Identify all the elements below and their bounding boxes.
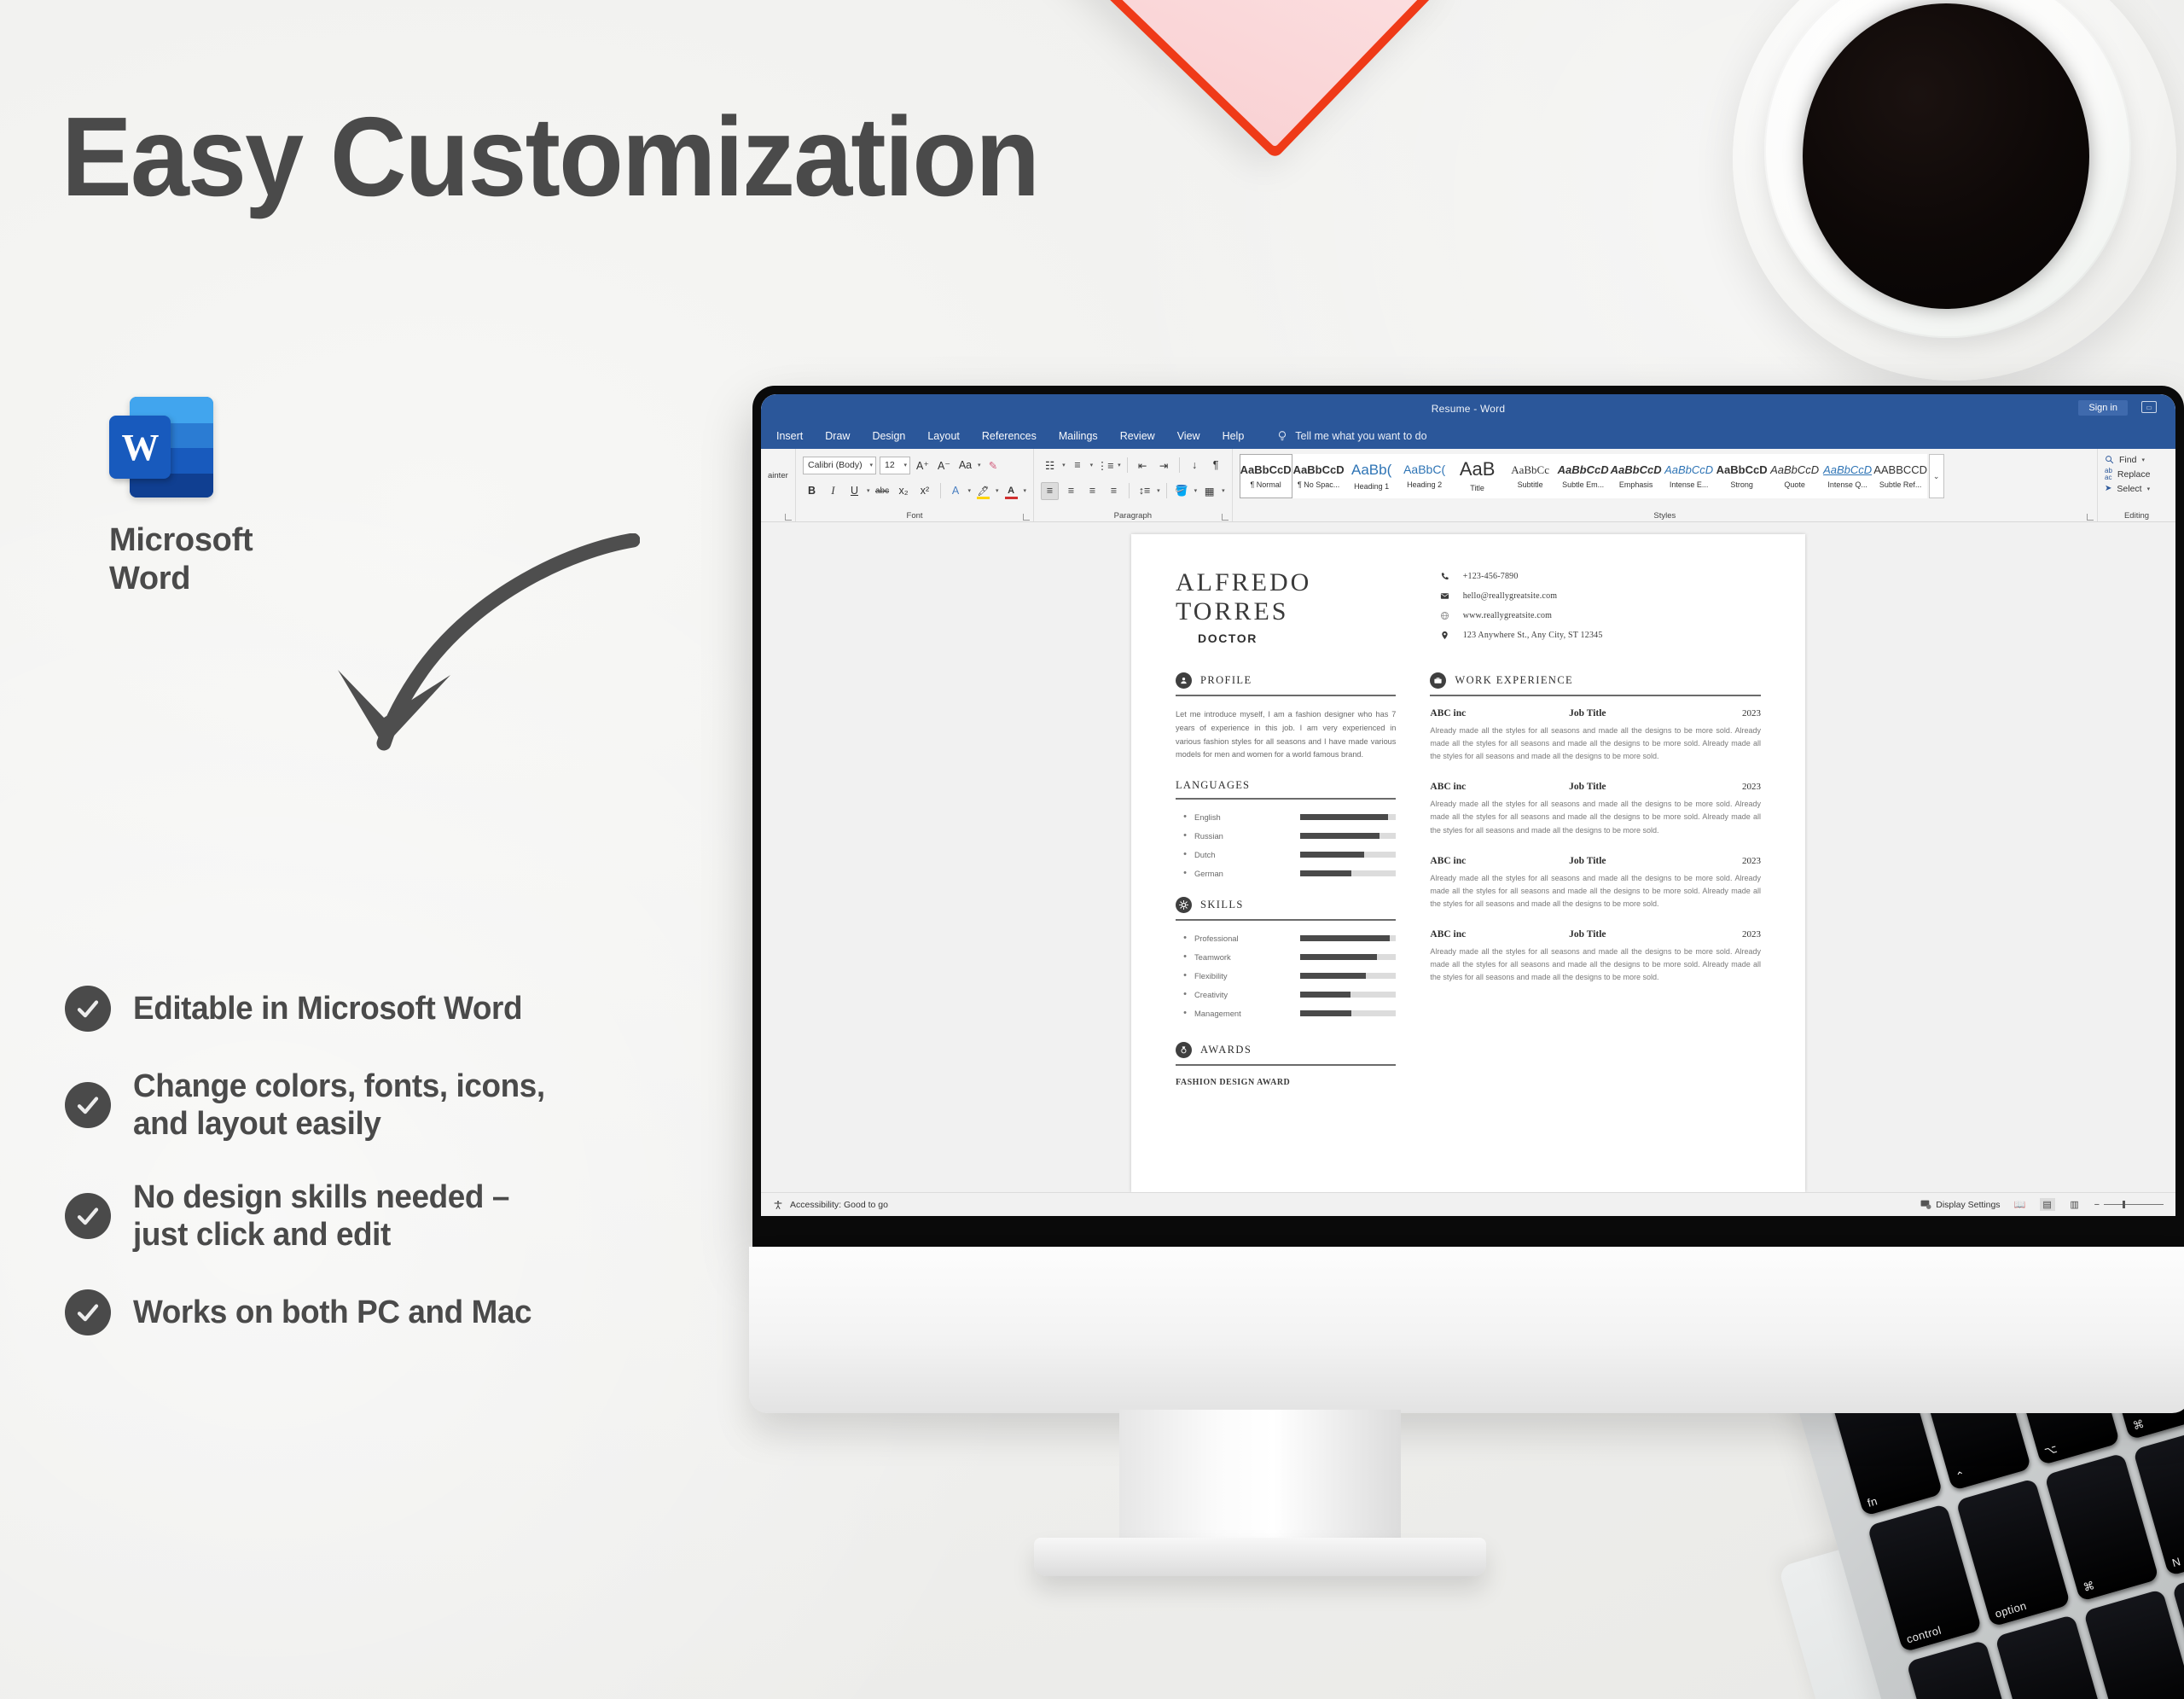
document-title: Resume - Word	[1432, 403, 1505, 415]
bullet-icon: •	[1176, 1008, 1194, 1018]
language-label: Dutch	[1194, 850, 1300, 859]
align-left-icon[interactable]: ≡	[1041, 482, 1059, 500]
select-button[interactable]: ➤ Select ▾	[2105, 481, 2169, 496]
language-label: Russian	[1194, 831, 1300, 841]
sign-in-button[interactable]: Sign in	[2078, 400, 2128, 416]
grow-font-icon[interactable]: A⁺	[914, 457, 932, 474]
section-rule	[1176, 798, 1396, 800]
style-preview: AaBbC(	[1403, 463, 1445, 475]
style-preview: AaBbCcD	[1770, 464, 1819, 475]
monitor-chin	[749, 1247, 2184, 1413]
resume-identity: ALFREDO TORRES DOCTOR	[1176, 568, 1439, 650]
style-intense-emphasis[interactable]: AaBbCcD Intense E...	[1663, 454, 1716, 498]
clipboard-dialog-launcher[interactable]	[785, 514, 792, 521]
contact-email-text: hello@reallygreatsite.com	[1463, 591, 1558, 601]
experience-title: Job Title	[1569, 782, 1694, 792]
skill-row: • Management	[1176, 1008, 1396, 1018]
style-title[interactable]: AaB Title	[1451, 454, 1504, 498]
style-preview: AaBbCcD	[1716, 464, 1768, 475]
font-color-icon[interactable]: A	[1002, 482, 1020, 500]
feature-label: Works on both PC and Mac	[133, 1294, 531, 1331]
style-preview: AaBbCcD	[1664, 464, 1713, 475]
chevron-down-icon[interactable]: ▾	[2141, 457, 2145, 463]
chevron-down-icon[interactable]: ▾	[1222, 487, 1225, 494]
contact-email: hello@reallygreatsite.com	[1439, 591, 1761, 601]
resume-header: ALFREDO TORRES DOCTOR +123-456-7890	[1176, 568, 1761, 650]
check-icon	[65, 1289, 111, 1335]
mail-icon	[1439, 591, 1451, 601]
experience-year: 2023	[1694, 782, 1761, 792]
contact-address-text: 123 Anywhere St., Any City, ST 12345	[1463, 631, 1603, 640]
style-preview: AaBbCcD	[1240, 464, 1292, 475]
level-bar	[1300, 1010, 1396, 1016]
experience-item: ABC inc Job Title 2023 Already made all …	[1430, 929, 1761, 984]
word-title-bar: Resume - Word Sign in ▭	[761, 394, 2175, 423]
experience-desc: Already made all the styles for all seas…	[1430, 724, 1761, 763]
monitor-stand-neck	[1119, 1410, 1401, 1542]
imac-monitor: Resume - Word Sign in ▭ Insert Draw Desi…	[752, 386, 2184, 1247]
experience-desc: Already made all the styles for all seas…	[1430, 798, 1761, 836]
tab-references[interactable]: References	[982, 430, 1037, 442]
language-row: • Russian	[1176, 830, 1396, 841]
resume-contacts: +123-456-7890 hello@reallygreatsite.com	[1439, 568, 1761, 650]
style-label: Intense Q...	[1827, 480, 1867, 489]
style-label: ¶ Normal	[1250, 480, 1281, 489]
style-subtle-emphasis[interactable]: AaBbCcD Subtle Em...	[1557, 454, 1610, 498]
numbering-icon[interactable]: ≡	[1069, 457, 1087, 474]
experience-org: ABC inc	[1430, 856, 1569, 866]
increase-indent-icon[interactable]: ⇥	[1155, 457, 1173, 474]
tab-review[interactable]: Review	[1120, 430, 1155, 442]
experience-desc: Already made all the styles for all seas…	[1430, 946, 1761, 984]
section-rule	[1176, 1064, 1396, 1066]
zoom-track[interactable]	[2104, 1204, 2164, 1205]
chevron-down-icon[interactable]: ▾	[1062, 462, 1066, 468]
section-experience-header: WORK EXPERIENCE	[1430, 672, 1761, 689]
accessibility-status[interactable]: Accessibility: Good to go	[773, 1200, 888, 1210]
tab-view[interactable]: View	[1177, 430, 1200, 442]
contact-website: www.reallygreatsite.com	[1439, 611, 1761, 620]
section-skills-header: SKILLS	[1176, 897, 1396, 913]
style-label: Subtitle	[1518, 480, 1543, 489]
bullet-icon: •	[1176, 830, 1194, 841]
resume-left-column: PROFILE Let me introduce myself, I am a …	[1176, 672, 1396, 1087]
tab-mailings[interactable]: Mailings	[1059, 430, 1098, 442]
sort-icon[interactable]: ↓	[1186, 457, 1204, 474]
experience-year: 2023	[1694, 929, 1761, 940]
document-canvas[interactable]: ALFREDO TORRES DOCTOR +123-456-7890	[761, 522, 2175, 1192]
display-settings-icon	[1920, 1200, 1931, 1209]
style-preview: AaBbCcD	[1558, 464, 1609, 475]
style-label: Title	[1470, 484, 1484, 492]
shrink-font-icon[interactable]: A⁻	[935, 457, 953, 474]
style-heading-2[interactable]: AaBbC( Heading 2	[1398, 454, 1451, 498]
font-name-combobox[interactable]: Calibri (Body) ▾	[803, 457, 876, 474]
briefcase-icon	[1430, 672, 1446, 689]
section-experience-title: WORK EXPERIENCE	[1455, 674, 1573, 687]
resume-name-line1: ALFREDO	[1176, 568, 1439, 597]
style-preview: AABBCCD	[1873, 464, 1927, 475]
bullet-icon: •	[1176, 868, 1194, 878]
chevron-down-icon[interactable]: ▾	[1157, 487, 1160, 494]
align-right-icon[interactable]: ≡	[1083, 482, 1101, 500]
language-row: • German	[1176, 868, 1396, 878]
font-dialog-launcher[interactable]	[1023, 514, 1030, 521]
level-bar	[1300, 973, 1396, 979]
monitor-stand-base	[1034, 1538, 1486, 1576]
profile-body: Let me introduce myself, I am a fashion …	[1176, 708, 1396, 762]
font-name-value: Calibri (Body)	[808, 460, 863, 470]
ribbon: ainter Calibri (Body) ▾ 12 ▾ A⁺	[761, 449, 2175, 522]
select-label: Select	[2117, 484, 2141, 494]
paragraph-group: ☷ ▾ ≡ ▾ ⋮≡ ▾ ⇤ ⇥ ↓ ¶ ≡	[1033, 449, 1232, 521]
style-preview: AaBbCcD	[1823, 464, 1872, 475]
text-effects-icon[interactable]: A	[947, 482, 965, 500]
paragraph-dialog-launcher[interactable]	[1222, 514, 1228, 521]
level-bar	[1300, 833, 1396, 839]
resume-name-line2: TORRES	[1176, 597, 1439, 626]
list-item: Works on both PC and Mac	[65, 1289, 764, 1335]
style-intense-quote[interactable]: AaBbCcD Intense Q...	[1821, 454, 1874, 498]
style-label: Heading 1	[1354, 482, 1389, 491]
tab-draw[interactable]: Draw	[825, 430, 850, 442]
chevron-down-icon[interactable]: ▾	[978, 462, 981, 468]
chevron-down-icon[interactable]: ▾	[2147, 486, 2151, 492]
style-normal[interactable]: AaBbCcD ¶ Normal	[1240, 454, 1292, 498]
level-bar	[1300, 992, 1396, 998]
styles-gallery: AaBbCcD ¶ Normal AaBbCcD ¶ No Spac... Aa…	[1240, 454, 2090, 498]
skill-label: Management	[1194, 1009, 1300, 1018]
feature-label: Editable in Microsoft Word	[133, 990, 522, 1027]
show-formatting-marks-icon[interactable]: ¶	[1207, 457, 1225, 474]
chevron-down-icon: ▾	[869, 462, 873, 468]
section-rule	[1176, 695, 1396, 696]
change-case-icon[interactable]: Aa	[956, 457, 974, 474]
style-preview: AaBbCc	[1511, 464, 1549, 475]
chevron-down-icon[interactable]: ▾	[1090, 462, 1094, 468]
zoom-handle[interactable]	[2123, 1201, 2125, 1208]
language-label: German	[1194, 869, 1300, 878]
clipboard-group: ainter	[761, 449, 795, 521]
section-awards-header: AWARDS	[1176, 1042, 1396, 1058]
monitor-screen: Resume - Word Sign in ▭ Insert Draw Desi…	[761, 394, 2175, 1216]
replace-label: Replace	[2117, 469, 2151, 480]
replace-button[interactable]: abac Replace	[2105, 467, 2169, 481]
experience-title: Job Title	[1569, 708, 1694, 719]
borders-icon[interactable]: ▦	[1200, 482, 1218, 500]
skill-label: Professional	[1194, 934, 1300, 943]
word-status-bar: Accessibility: Good to go Display Settin…	[761, 1192, 2175, 1216]
language-row: • English	[1176, 812, 1396, 822]
skill-label: Creativity	[1194, 990, 1300, 999]
bullet-icon: •	[1176, 970, 1194, 980]
resume-page[interactable]: ALFREDO TORRES DOCTOR +123-456-7890	[1131, 534, 1805, 1192]
strikethrough-icon[interactable]: abc	[874, 482, 892, 500]
font-size-value: 12	[885, 460, 895, 470]
resume-columns: PROFILE Let me introduce myself, I am a …	[1176, 672, 1761, 1087]
experience-item: ABC inc Job Title 2023 Already made all …	[1430, 708, 1761, 763]
experience-org: ABC inc	[1430, 782, 1569, 792]
contact-phone-text: +123-456-7890	[1463, 572, 1519, 581]
styles-dialog-launcher[interactable]	[2087, 514, 2094, 521]
accessibility-icon	[773, 1200, 783, 1210]
zoom-out-icon[interactable]: −	[2094, 1200, 2100, 1210]
style-subtitle[interactable]: AaBbCc Subtitle	[1504, 454, 1557, 498]
chevron-down-icon[interactable]: ▾	[1024, 487, 1027, 494]
subscript-icon[interactable]: x₂	[895, 482, 913, 500]
check-icon	[65, 986, 111, 1032]
tell-me-search[interactable]: Tell me what you want to do	[1276, 430, 1426, 442]
text-highlight-color-icon[interactable]: 🖊	[974, 482, 992, 500]
shading-icon[interactable]: 🪣	[1173, 482, 1191, 500]
style-preview: AaBbCcD	[1611, 464, 1662, 475]
paragraph-group-label: Paragraph	[1034, 511, 1232, 521]
skill-row: • Creativity	[1176, 989, 1396, 999]
gear-icon	[1176, 897, 1192, 913]
level-bar	[1300, 870, 1396, 876]
keyboard-key: X	[2083, 1589, 2184, 1699]
line-spacing-icon[interactable]: ↕≡	[1136, 482, 1153, 500]
skill-row: • Flexibility	[1176, 970, 1396, 980]
search-icon	[2105, 455, 2114, 464]
styles-group: AaBbCcD ¶ Normal AaBbCcD ¶ No Spac... Aa…	[1232, 449, 2097, 521]
section-rule	[1176, 919, 1396, 921]
check-icon	[65, 1193, 111, 1239]
tab-layout[interactable]: Layout	[927, 430, 960, 442]
styles-more-button[interactable]: ⌄	[1929, 454, 1944, 498]
tab-help[interactable]: Help	[1223, 430, 1245, 442]
style-label: Intense E...	[1670, 480, 1709, 489]
list-item: Change colors, fonts, icons, and layout …	[65, 1068, 764, 1143]
section-profile-header: PROFILE	[1176, 672, 1396, 689]
feature-label: Change colors, fonts, icons, and layout …	[133, 1068, 545, 1143]
style-emphasis[interactable]: AaBbCcD Emphasis	[1610, 454, 1663, 498]
find-label: Find	[2119, 455, 2136, 465]
experience-title: Job Title	[1569, 929, 1694, 940]
page-title: Easy Customization	[61, 101, 1038, 213]
chevron-down-icon[interactable]: ▾	[867, 487, 870, 494]
style-preview: AaB	[1460, 460, 1496, 479]
experience-item: ABC inc Job Title 2023 Already made all …	[1430, 856, 1761, 911]
resume-right-column: WORK EXPERIENCE ABC inc Job Title 2023 A…	[1430, 672, 1761, 1087]
person-icon	[1176, 672, 1192, 689]
style-subtle-reference[interactable]: AABBCCD Subtle Ref...	[1874, 454, 1927, 498]
style-label: Heading 2	[1407, 480, 1442, 489]
font-size-combobox[interactable]: 12 ▾	[880, 457, 910, 474]
contact-website-text: www.reallygreatsite.com	[1463, 611, 1552, 620]
style-strong[interactable]: AaBbCcD Strong	[1716, 454, 1769, 498]
section-rule	[1430, 695, 1761, 696]
style-label: ¶ No Spac...	[1298, 480, 1339, 489]
award-name: FASHION DESIGN AWARD	[1176, 1078, 1396, 1087]
contact-phone: +123-456-7890	[1439, 572, 1761, 581]
styles-group-label: Styles	[1233, 511, 2097, 521]
italic-icon[interactable]: I	[824, 482, 842, 500]
chevron-down-icon[interactable]: ▾	[996, 487, 999, 494]
bold-icon[interactable]: B	[803, 482, 821, 500]
level-bar	[1300, 852, 1396, 858]
check-icon	[65, 1082, 111, 1128]
format-painter-label[interactable]: ainter	[768, 471, 788, 480]
experience-org: ABC inc	[1430, 708, 1569, 719]
zoom-slider[interactable]: −	[2094, 1200, 2164, 1210]
superscript-icon[interactable]: x²	[916, 482, 934, 500]
section-profile-title: PROFILE	[1200, 674, 1252, 687]
replace-icon: abac	[2105, 468, 2112, 480]
lightbulb-icon	[1276, 430, 1288, 442]
read-mode-icon[interactable]: 📖	[2013, 1198, 2028, 1211]
level-bar	[1300, 954, 1396, 960]
section-languages-title: LANGUAGES	[1176, 779, 1396, 792]
clear-formatting-icon[interactable]: ✎	[985, 457, 1002, 474]
decrease-indent-icon[interactable]: ⇤	[1134, 457, 1152, 474]
cursor-icon: ➤	[2105, 484, 2111, 493]
word-letter-tile: W	[109, 416, 171, 479]
skill-row: • Professional	[1176, 933, 1396, 943]
section-awards-title: AWARDS	[1200, 1044, 1252, 1056]
accessibility-label: Accessibility: Good to go	[790, 1200, 888, 1210]
bullet-icon: •	[1176, 951, 1194, 962]
resume-role: DOCTOR	[1198, 631, 1439, 645]
display-settings-button[interactable]: Display Settings	[1920, 1200, 2000, 1210]
justify-icon[interactable]: ≡	[1105, 482, 1123, 500]
editing-group-label: Editing	[2098, 511, 2175, 521]
display-settings-label: Display Settings	[1936, 1200, 2000, 1210]
bullet-icon: •	[1176, 989, 1194, 999]
chevron-down-icon: ▾	[903, 462, 907, 468]
chevron-down-icon[interactable]: ▾	[968, 487, 972, 494]
ribbon-tab-bar: Insert Draw Design Layout References Mai…	[761, 423, 2175, 449]
curved-arrow-icon	[264, 533, 640, 781]
style-heading-1[interactable]: AaBb( Heading 1	[1345, 454, 1398, 498]
style-label: Quote	[1784, 480, 1805, 489]
style-label: Strong	[1730, 480, 1753, 489]
tell-me-label: Tell me what you want to do	[1295, 430, 1426, 442]
skill-label: Flexibility	[1194, 971, 1300, 980]
skill-row: • Teamwork	[1176, 951, 1396, 962]
style-no-spacing[interactable]: AaBbCcD ¶ No Spac...	[1292, 454, 1345, 498]
bullets-icon[interactable]: ☷	[1041, 457, 1059, 474]
experience-item: ABC inc Job Title 2023 Already made all …	[1430, 782, 1761, 836]
style-label: Subtle Em...	[1562, 480, 1604, 489]
font-group-label: Font	[796, 511, 1033, 521]
multilevel-list-icon[interactable]: ⋮≡	[1096, 457, 1114, 474]
experience-org: ABC inc	[1430, 929, 1569, 940]
medal-icon	[1176, 1042, 1192, 1058]
ribbon-display-options-icon[interactable]: ▭	[2141, 401, 2157, 413]
experience-title: Job Title	[1569, 856, 1694, 866]
style-label: Emphasis	[1619, 480, 1653, 489]
experience-year: 2023	[1694, 856, 1761, 866]
microsoft-word-icon: W	[109, 397, 213, 497]
editing-group: Find ▾ abac Replace ➤ Select ▾ Editing	[2097, 449, 2175, 521]
section-skills-title: SKILLS	[1200, 899, 1244, 911]
style-label: Subtle Ref...	[1879, 480, 1922, 489]
microsoft-word-window: Resume - Word Sign in ▭ Insert Draw Desi…	[761, 394, 2175, 1216]
list-item: No design skills needed – just click and…	[65, 1178, 764, 1254]
experience-year: 2023	[1694, 708, 1761, 719]
tab-design[interactable]: Design	[872, 430, 905, 442]
language-row: • Dutch	[1176, 849, 1396, 859]
bullet-icon: •	[1176, 849, 1194, 859]
align-center-icon[interactable]: ≡	[1062, 482, 1080, 500]
list-item: Editable in Microsoft Word	[65, 986, 764, 1032]
contact-address: 123 Anywhere St., Any City, ST 12345	[1439, 631, 1761, 640]
bullet-icon: •	[1176, 812, 1194, 822]
language-label: English	[1194, 812, 1300, 822]
style-preview: AaBb(	[1351, 463, 1391, 477]
font-group: Calibri (Body) ▾ 12 ▾ A⁺ A⁻ Aa ▾ ✎	[795, 449, 1033, 521]
chevron-down-icon[interactable]: ▾	[1118, 462, 1121, 468]
feature-label: No design skills needed – just click and…	[133, 1178, 509, 1254]
location-pin-icon	[1439, 631, 1451, 640]
phone-icon	[1439, 572, 1451, 581]
web-layout-icon[interactable]: ▥	[2067, 1198, 2082, 1211]
globe-icon	[1439, 611, 1451, 620]
style-preview: AaBbCcD	[1293, 464, 1345, 475]
chevron-down-icon[interactable]: ▾	[1194, 487, 1198, 494]
experience-desc: Already made all the styles for all seas…	[1430, 872, 1761, 911]
find-button[interactable]: Find ▾	[2105, 452, 2169, 467]
feature-checklist: Editable in Microsoft Word Change colors…	[65, 986, 764, 1335]
tab-insert[interactable]: Insert	[776, 430, 803, 442]
skill-label: Teamwork	[1194, 952, 1300, 962]
underline-icon[interactable]: U	[845, 482, 863, 500]
style-quote[interactable]: AaBbCcD Quote	[1769, 454, 1821, 498]
level-bar	[1300, 935, 1396, 941]
coffee-liquid	[1803, 3, 2089, 309]
level-bar	[1300, 814, 1396, 820]
bullet-icon: •	[1176, 933, 1194, 943]
print-layout-icon[interactable]: ▤	[2040, 1198, 2055, 1211]
